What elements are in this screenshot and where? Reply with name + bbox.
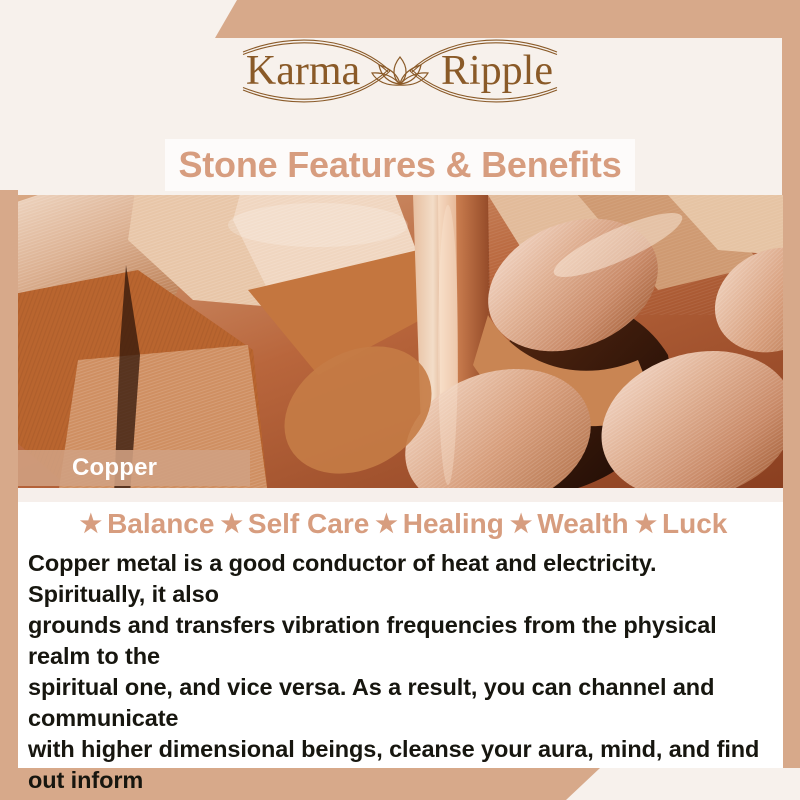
benefit-item-0: ★ Balance xyxy=(74,508,215,540)
star-icon: ★ xyxy=(635,512,657,537)
star-icon: ★ xyxy=(375,512,397,537)
benefit-label-1: Self Care xyxy=(248,508,369,540)
frame-right-bar xyxy=(782,38,800,768)
description-text: Copper metal is a good conductor of heat… xyxy=(28,548,778,800)
product-infographic: Karma Ripple Stone Features & Benefits xyxy=(0,0,800,800)
benefit-label-3: Wealth xyxy=(537,508,628,540)
description-line-2: spiritual one, and vice versa. As a resu… xyxy=(28,672,778,734)
benefit-item-1: ★ Self Care xyxy=(214,508,369,540)
brand-logo: Karma Ripple xyxy=(0,28,800,114)
star-icon: ★ xyxy=(220,512,242,537)
brand-name-left: Karma xyxy=(246,48,361,94)
star-icon: ★ xyxy=(80,512,102,537)
description-line-0: Copper metal is a good conductor of heat… xyxy=(28,548,778,610)
content-panel: ★ Balance ★ Self Care ★ Healing ★ Wealth… xyxy=(18,488,783,768)
benefit-item-3: ★ Wealth xyxy=(504,508,629,540)
brand-logo-svg: Karma Ripple xyxy=(185,28,615,114)
title-band: Stone Features & Benefits xyxy=(165,139,635,191)
description-line-3: with higher dimensional beings, cleanse … xyxy=(28,734,778,796)
brand-name-right: Ripple xyxy=(441,48,553,94)
benefit-label-4: Luck xyxy=(662,508,727,540)
star-icon: ★ xyxy=(510,512,532,537)
benefit-label-0: Balance xyxy=(107,508,214,540)
lotus-icon xyxy=(372,57,428,85)
benefit-label-2: Healing xyxy=(403,508,504,540)
photo-caption-text: Copper xyxy=(18,454,157,482)
benefits-list: ★ Balance ★ Self Care ★ Healing ★ Wealth… xyxy=(18,502,783,546)
description-line-4: -ation from the spiritual world. Copper … xyxy=(28,796,778,800)
photo-caption-badge: Copper xyxy=(18,450,250,486)
benefit-item-2: ★ Healing xyxy=(369,508,504,540)
frame-left-bar xyxy=(0,190,18,768)
page-title: Stone Features & Benefits xyxy=(178,144,621,186)
copper-photo-illustration xyxy=(18,195,783,488)
description-line-1: grounds and transfers vibration frequenc… xyxy=(28,610,778,672)
panel-divider xyxy=(18,488,783,502)
benefit-item-4: ★ Luck xyxy=(629,508,728,540)
copper-photo: Copper xyxy=(18,195,783,488)
